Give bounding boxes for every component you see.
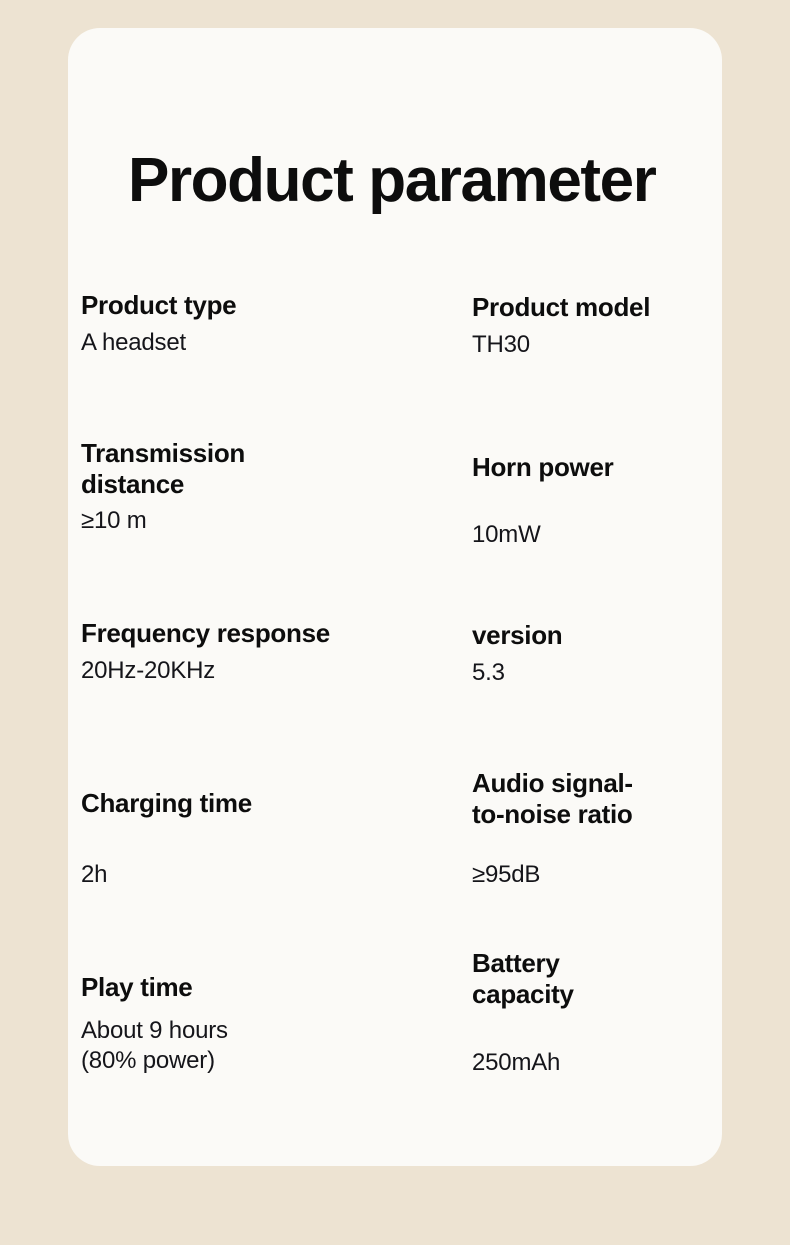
spec-label: Transmissiondistance [81,438,245,499]
spec-value: 250mAh [472,1048,560,1078]
spec-value: ≥10 m [81,506,147,536]
spec-row: Charging time2hAudio signal-to-noise rat… [68,768,722,918]
spec-row: Transmissiondistance≥10 mHorn power10mW [68,438,722,588]
spec-value: A headset [81,328,186,358]
spec-label: version [472,620,562,651]
spec-label: Charging time [81,788,252,819]
spec-value: ≥95dB [472,860,540,890]
spec-value: 10mW [472,520,541,550]
product-parameter-card: Product parameter Product typeA headsetP… [68,28,722,1166]
spec-value: 2h [81,860,107,890]
spec-row: Frequency response20Hz-20KHzversion5.3 [68,618,722,768]
spec-value: 5.3 [472,658,505,688]
spec-label: Product model [472,292,650,323]
spec-value: 20Hz-20KHz [81,656,215,686]
spec-label: Batterycapacity [472,948,574,1009]
page-title: Product parameter [128,150,655,212]
spec-label: Audio signal-to-noise ratio [472,768,633,829]
spec-value: TH30 [472,330,530,360]
spec-label: Frequency response [81,618,330,649]
spec-row: Product typeA headsetProduct modelTH30 [68,290,722,440]
spec-row: Play timeAbout 9 hours(80% power)Battery… [68,948,722,1098]
spec-label: Play time [81,972,192,1003]
spec-label: Product type [81,290,236,321]
spec-value: About 9 hours(80% power) [81,1016,228,1076]
spec-label: Horn power [472,452,613,483]
